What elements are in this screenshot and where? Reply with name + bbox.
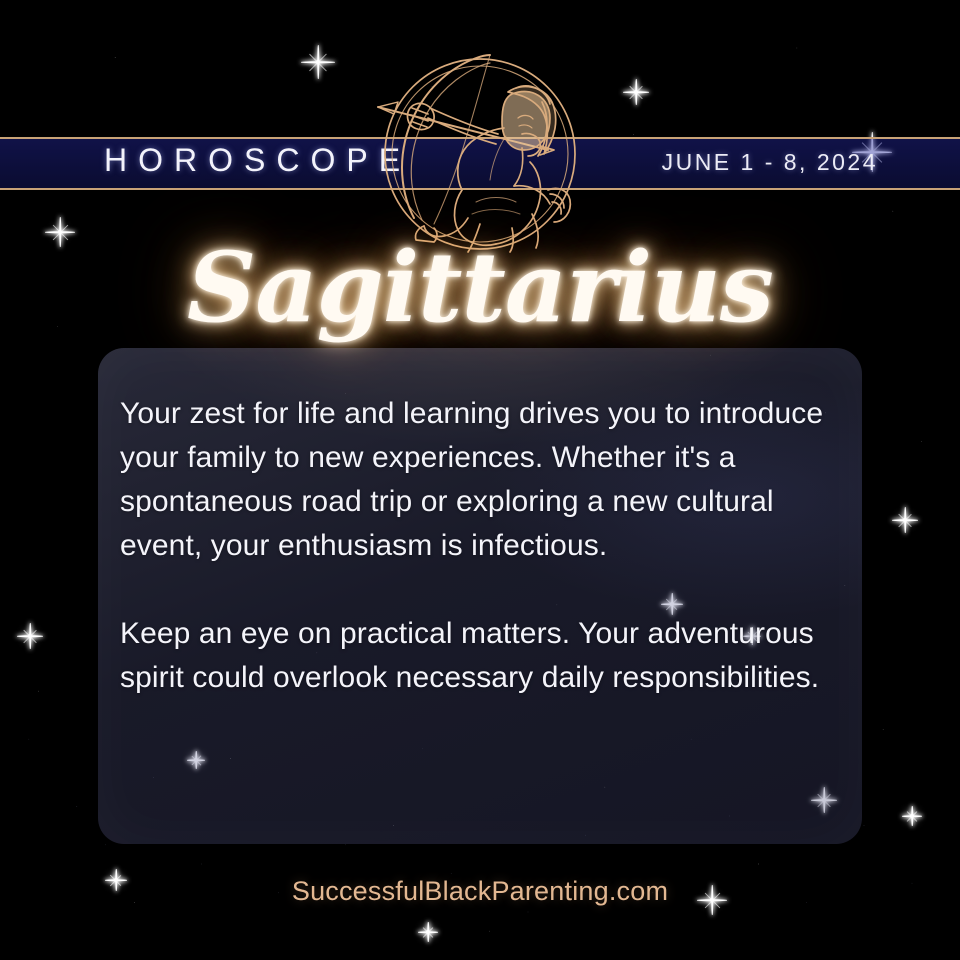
date-range-label: JUNE 1 - 8, 2024 xyxy=(662,149,878,176)
horoscope-reading-text: Your zest for life and learning drives y… xyxy=(120,392,840,700)
sagittarius-archer-emblem-icon xyxy=(372,42,588,258)
zodiac-sign-name: Sagittarius xyxy=(0,238,960,339)
sparkle-star xyxy=(902,806,922,826)
reading-paragraph: Keep an eye on practical matters. Your a… xyxy=(120,612,840,700)
website-footer: SuccessfulBlackParenting.com xyxy=(0,876,960,907)
sparkle-star xyxy=(418,922,438,942)
sparkle-star xyxy=(301,45,335,79)
sparkle-star xyxy=(623,79,649,105)
horoscope-reading-card: Your zest for life and learning drives y… xyxy=(98,348,862,844)
reading-paragraph: Your zest for life and learning drives y… xyxy=(120,392,840,568)
sparkle-star xyxy=(17,623,43,649)
horoscope-poster: HOROSCOPE JUNE 1 - 8, 2024 xyxy=(0,0,960,960)
page-title: HOROSCOPE xyxy=(104,142,411,179)
sparkle-star xyxy=(892,507,918,533)
